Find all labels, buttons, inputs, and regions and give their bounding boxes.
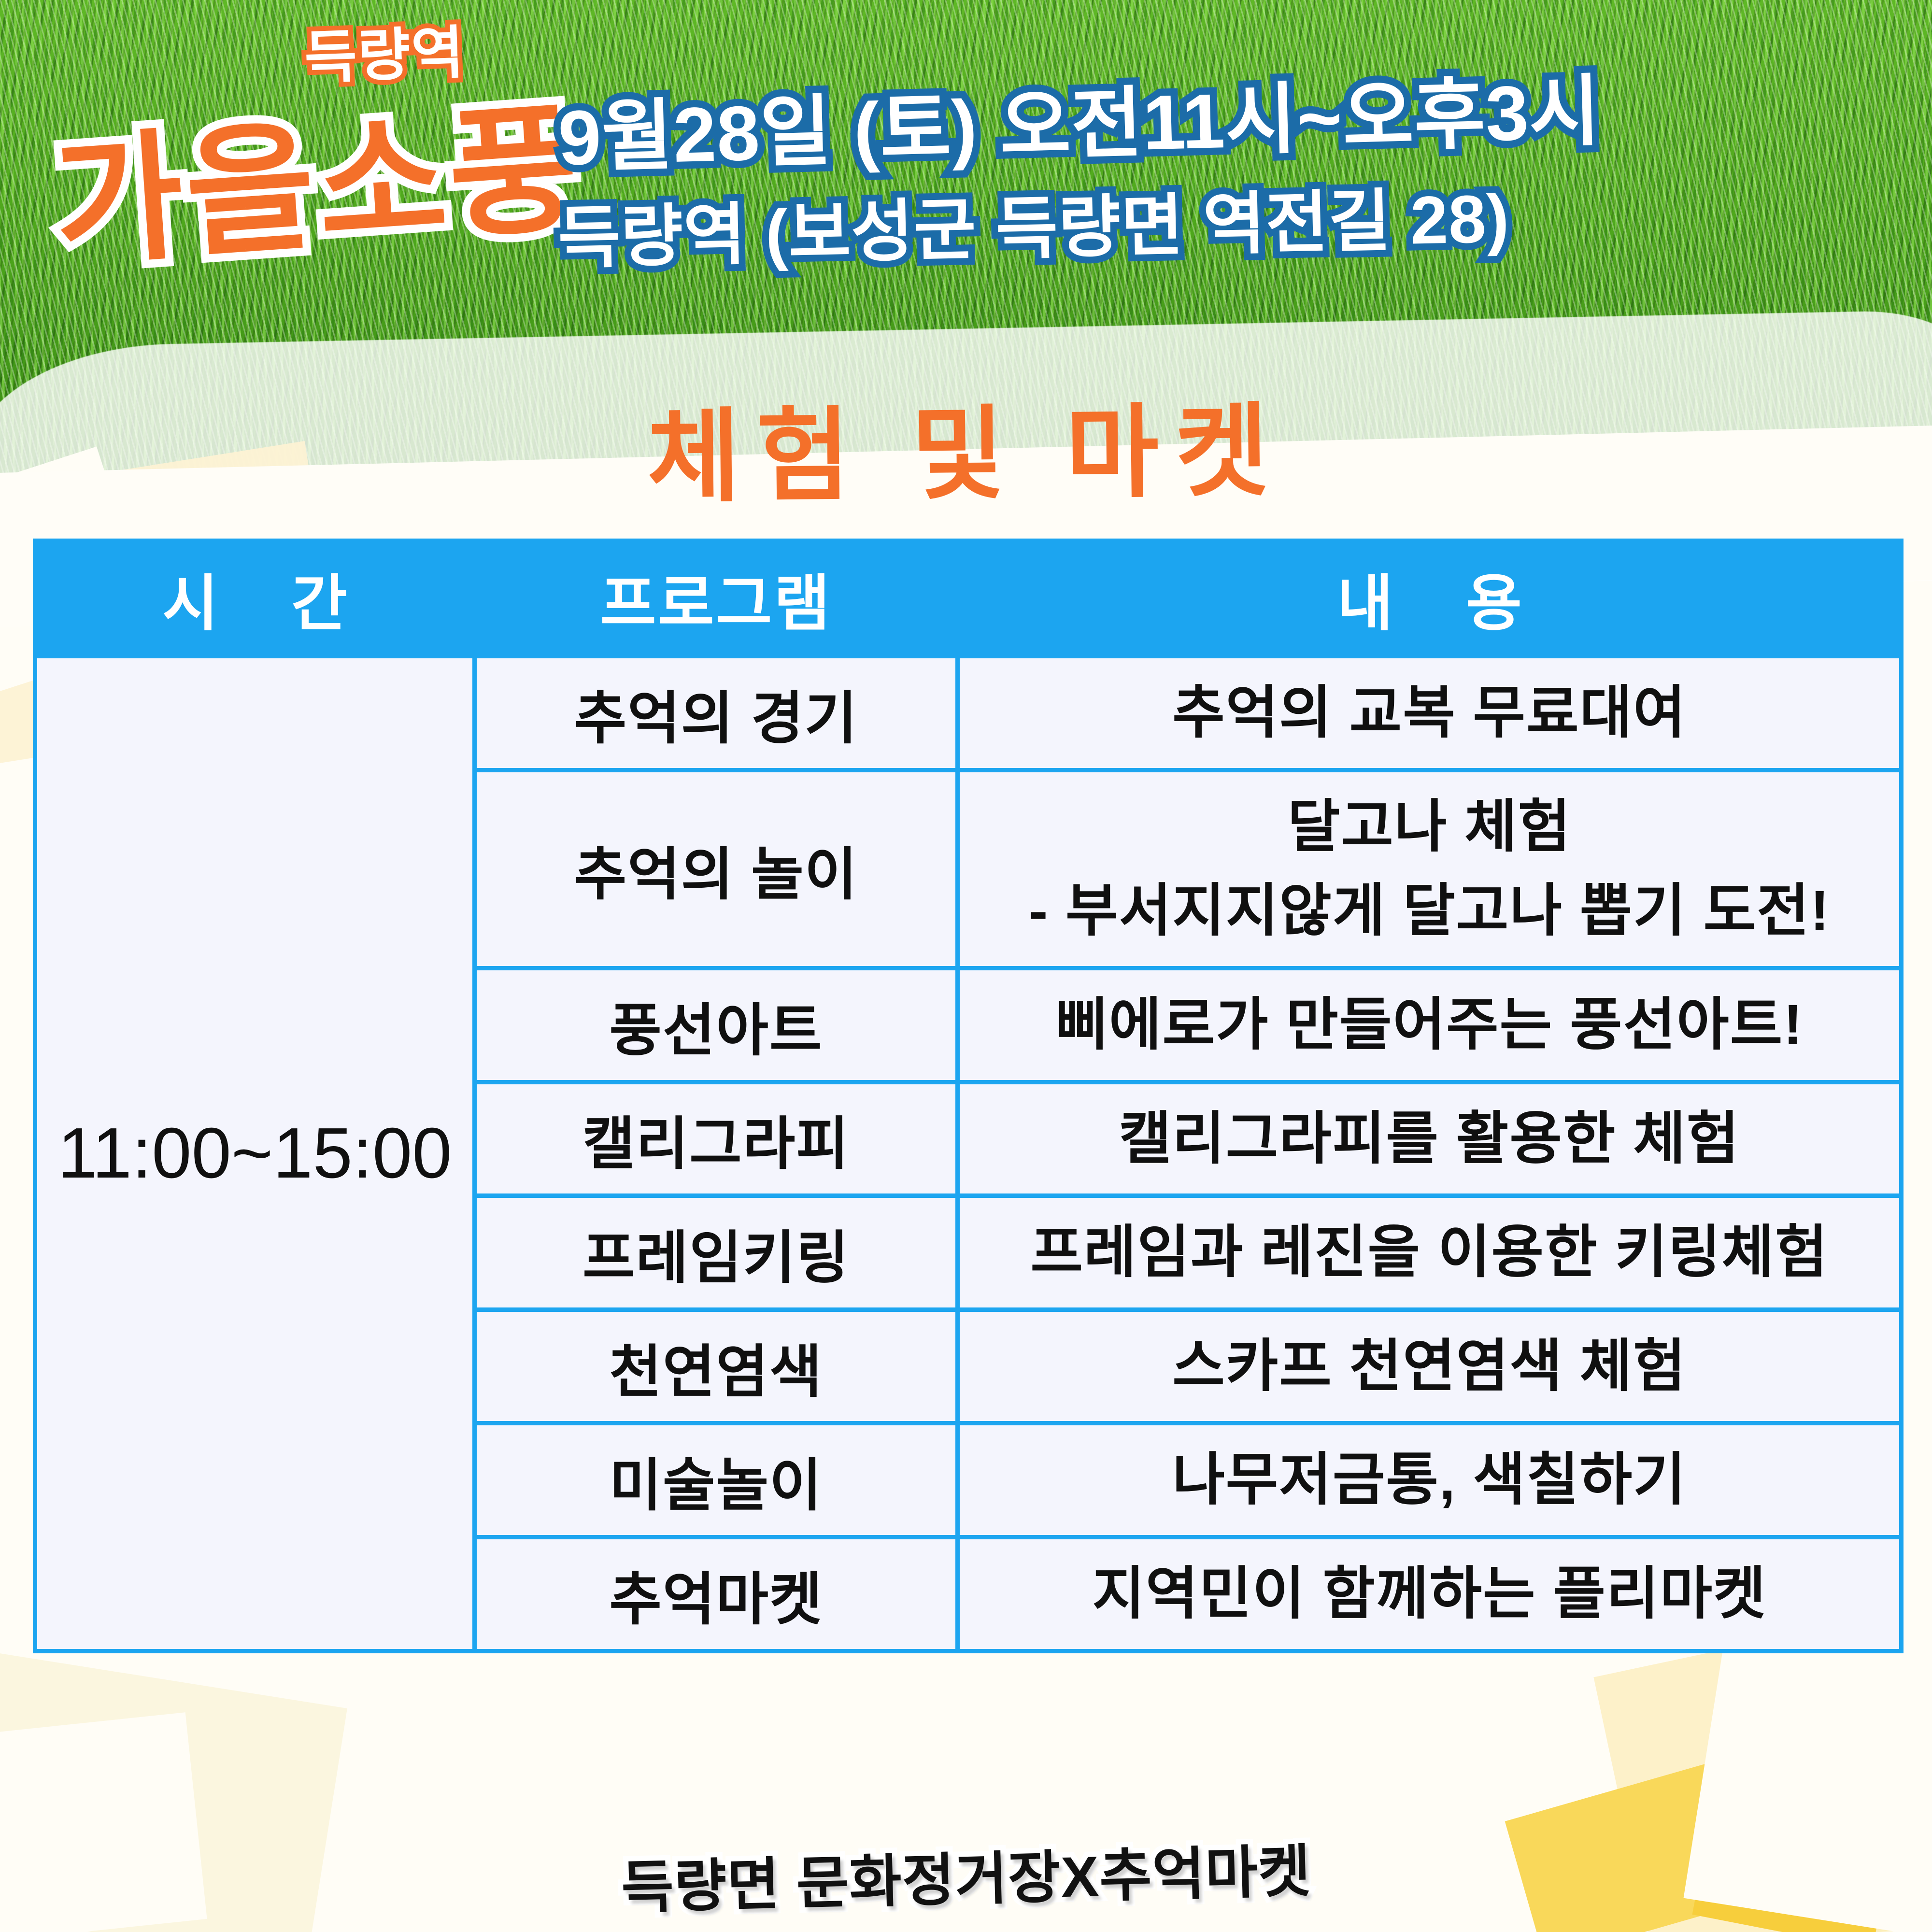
program-cell: 프레임키링 — [475, 1196, 958, 1310]
section-heading: 체험 및 마켓 — [0, 362, 1932, 529]
column-header-program: 프로그램 — [475, 541, 958, 656]
content-line-1: 달고나 체험 — [966, 785, 1892, 869]
poster-header: 득량역 가을소풍 9월28일 (토) 오전11시~오후3시 득량역 (보성군 득… — [0, 0, 1932, 299]
content-cell: 캘리그라피를 활용한 체험 — [958, 1082, 1902, 1196]
program-cell: 캘리그라피 — [475, 1082, 958, 1196]
table-header-row: 시 간 프로그램 내 용 — [35, 541, 1902, 656]
program-cell: 미술놀이 — [475, 1423, 958, 1537]
time-span-cell: 11:00~15:00 — [35, 656, 475, 1651]
schedule-table-wrapper: 시 간 프로그램 내 용 11:00~15:00 추억의 경기 추억의 교복 무… — [33, 539, 1899, 1653]
program-cell: 추억마켓 — [475, 1537, 958, 1651]
event-location: 득량역 (보성군 득량면 역전길 28) — [557, 164, 1510, 281]
content-cell: 달고나 체험 - 부서지지않게 달고나 뽑기 도전! — [958, 770, 1902, 968]
program-cell: 추억의 놀이 — [475, 770, 958, 968]
column-header-time: 시 간 — [35, 541, 475, 656]
schedule-table: 시 간 프로그램 내 용 11:00~15:00 추억의 경기 추억의 교복 무… — [33, 539, 1904, 1653]
table-row: 11:00~15:00 추억의 경기 추억의 교복 무료대여 — [35, 656, 1902, 770]
content-cell: 나무저금통, 색칠하기 — [958, 1423, 1902, 1537]
content-cell: 스카프 천연염색 체험 — [958, 1309, 1902, 1423]
content-line-2: - 부서지지않게 달고나 뽑기 도전! — [966, 869, 1892, 953]
program-cell: 천연염색 — [475, 1309, 958, 1423]
poster-canvas: 득량역 가을소풍 9월28일 (토) 오전11시~오후3시 득량역 (보성군 득… — [0, 0, 1932, 1932]
content-cell: 추억의 교복 무료대여 — [958, 656, 1902, 770]
column-header-content: 내 용 — [958, 541, 1902, 656]
program-cell: 추억의 경기 — [475, 656, 958, 770]
content-cell: 프레임과 레진을 이용한 키링체험 — [958, 1196, 1902, 1310]
schedule-table-body: 11:00~15:00 추억의 경기 추억의 교복 무료대여 추억의 놀이 달고… — [35, 656, 1902, 1651]
program-cell: 풍선아트 — [475, 968, 958, 1082]
content-cell: 지역민이 함께하는 플리마켓 — [958, 1537, 1902, 1651]
content-cell: 삐에로가 만들어주는 풍선아트! — [958, 968, 1902, 1082]
page-title: 가을소풍 — [47, 54, 587, 293]
